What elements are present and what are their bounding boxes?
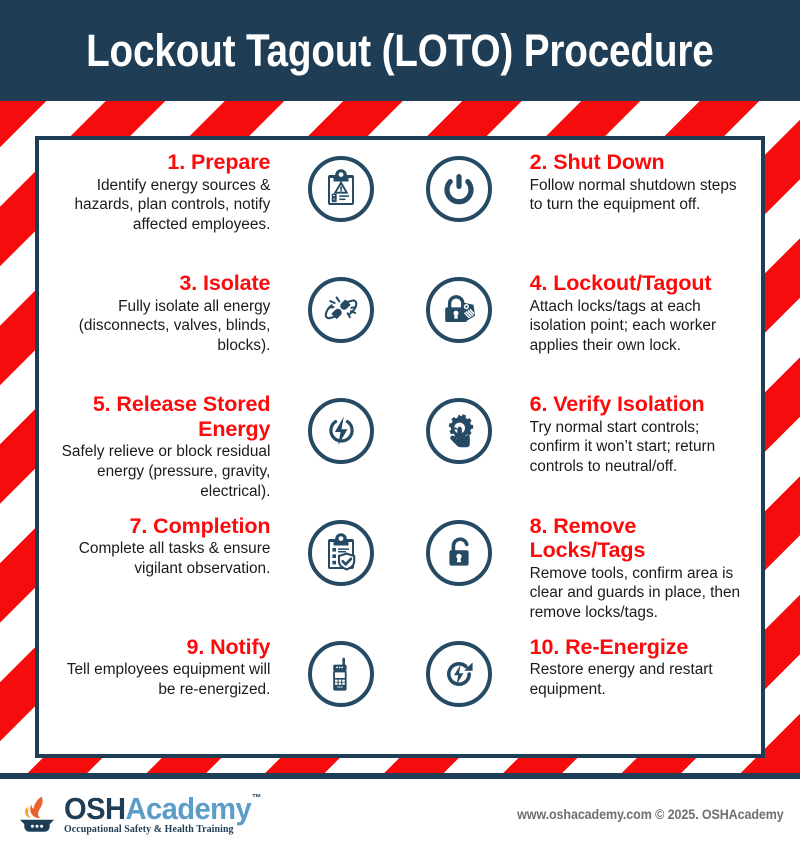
step-3: 3. Isolate Fully isolate all energy (dis… [39, 271, 282, 355]
lightning-bolt-circle-icon [308, 398, 374, 464]
step-4: 4. Lockout/Tagout Attach locks/tags at e… [518, 271, 761, 355]
step-title: 3. Isolate [51, 271, 270, 296]
power-button-icon [426, 156, 492, 222]
step-row: 1. Prepare Identify energy sources & haz… [39, 148, 761, 269]
step-title: 10. Re-Energize [530, 635, 749, 660]
torch-flame-icon [14, 793, 60, 837]
steps-list: 1. Prepare Identify energy sources & haz… [39, 140, 761, 754]
step-6: 6. Verify Isolation Try normal start con… [518, 392, 761, 476]
step-1-icon-slot [282, 150, 400, 222]
step-3-icon-slot [282, 271, 400, 343]
logo-tagline: Occupational Safety & Health Training [64, 825, 267, 835]
clipboard-warning-icon [308, 156, 374, 222]
step-10-icon-slot [400, 635, 518, 707]
two-way-radio-icon [308, 641, 374, 707]
step-9-icon-slot [282, 635, 400, 707]
step-10: 10. Re-Energize Restore energy and resta… [518, 635, 761, 700]
step-description: Safely relieve or block residual energy … [51, 442, 270, 501]
logo-osh-text: OSH [64, 793, 125, 824]
step-9: 9. Notify Tell employees equipment will … [39, 635, 282, 700]
step-title: 6. Verify Isolation [530, 392, 749, 417]
recharge-arrow-bolt-icon [426, 641, 492, 707]
step-row: 9. Notify Tell employees equipment will … [39, 633, 761, 754]
step-2-icon-slot [400, 150, 518, 222]
step-7-icon-slot [282, 514, 400, 586]
page-title: Lockout Tagout (LOTO) Procedure [86, 25, 714, 77]
step-8-icon-slot [400, 514, 518, 586]
trademark-symbol: ™ [252, 794, 261, 804]
step-title: 9. Notify [51, 635, 270, 660]
step-1: 1. Prepare Identify energy sources & haz… [39, 150, 282, 234]
unplugged-cord-icon [308, 277, 374, 343]
loto-infographic: Lockout Tagout (LOTO) Procedure 1. Prepa… [0, 0, 800, 850]
step-description: Try normal start controls; confirm it wo… [530, 418, 749, 477]
step-description: Complete all tasks & ensure vigilant obs… [51, 539, 270, 578]
logo-text: OSHAcademy™ Occupational Safety & Health… [64, 793, 273, 835]
step-description: Remove tools, confirm area is clear and … [530, 564, 749, 623]
step-5: 5. Release Stored Energy Safely relieve … [39, 392, 282, 501]
step-description: Restore energy and restart equipment. [530, 660, 749, 699]
footer-credit: www.oshacademy.com © 2025. OSHAcademy [518, 807, 784, 822]
step-6-icon-slot [400, 392, 518, 464]
step-row: 3. Isolate Fully isolate all energy (dis… [39, 269, 761, 390]
footer: OSHAcademy™ Occupational Safety & Health… [0, 779, 800, 850]
logo-wordmark: OSHAcademy™ [64, 793, 261, 824]
step-row: 7. Completion Complete all tasks & ensur… [39, 512, 761, 633]
padlock-tag-icon [426, 277, 492, 343]
step-description: Tell employees equipment will be re-ener… [51, 660, 270, 699]
step-2: 2. Shut Down Follow normal shutdown step… [518, 150, 761, 215]
clipboard-shield-check-icon [308, 520, 374, 586]
header-banner: Lockout Tagout (LOTO) Procedure [0, 0, 800, 101]
step-title: 4. Lockout/Tagout [530, 271, 749, 296]
step-title: 2. Shut Down [530, 150, 749, 175]
step-title: 5. Release Stored Energy [51, 392, 270, 441]
oshacademy-logo[interactable]: OSHAcademy™ Occupational Safety & Health… [14, 793, 273, 837]
step-title: 8. Remove Locks/Tags [530, 514, 749, 563]
step-4-icon-slot [400, 271, 518, 343]
step-description: Attach locks/tags at each isolation poin… [530, 297, 749, 356]
step-description: Identify energy sources & hazards, plan … [51, 176, 270, 235]
step-5-icon-slot [282, 392, 400, 464]
step-description: Fully isolate all energy (disconnects, v… [51, 297, 270, 356]
step-description: Follow normal shutdown steps to turn the… [530, 176, 749, 215]
gear-hand-icon [426, 398, 492, 464]
step-7: 7. Completion Complete all tasks & ensur… [39, 514, 282, 579]
step-8: 8. Remove Locks/Tags Remove tools, confi… [518, 514, 761, 623]
open-padlock-icon [426, 520, 492, 586]
step-title: 7. Completion [51, 514, 270, 539]
steps-card: 1. Prepare Identify energy sources & haz… [35, 136, 765, 758]
step-title: 1. Prepare [51, 150, 270, 175]
logo-academy-text: Academy [125, 793, 251, 824]
step-row: 5. Release Stored Energy Safely relieve … [39, 390, 761, 511]
